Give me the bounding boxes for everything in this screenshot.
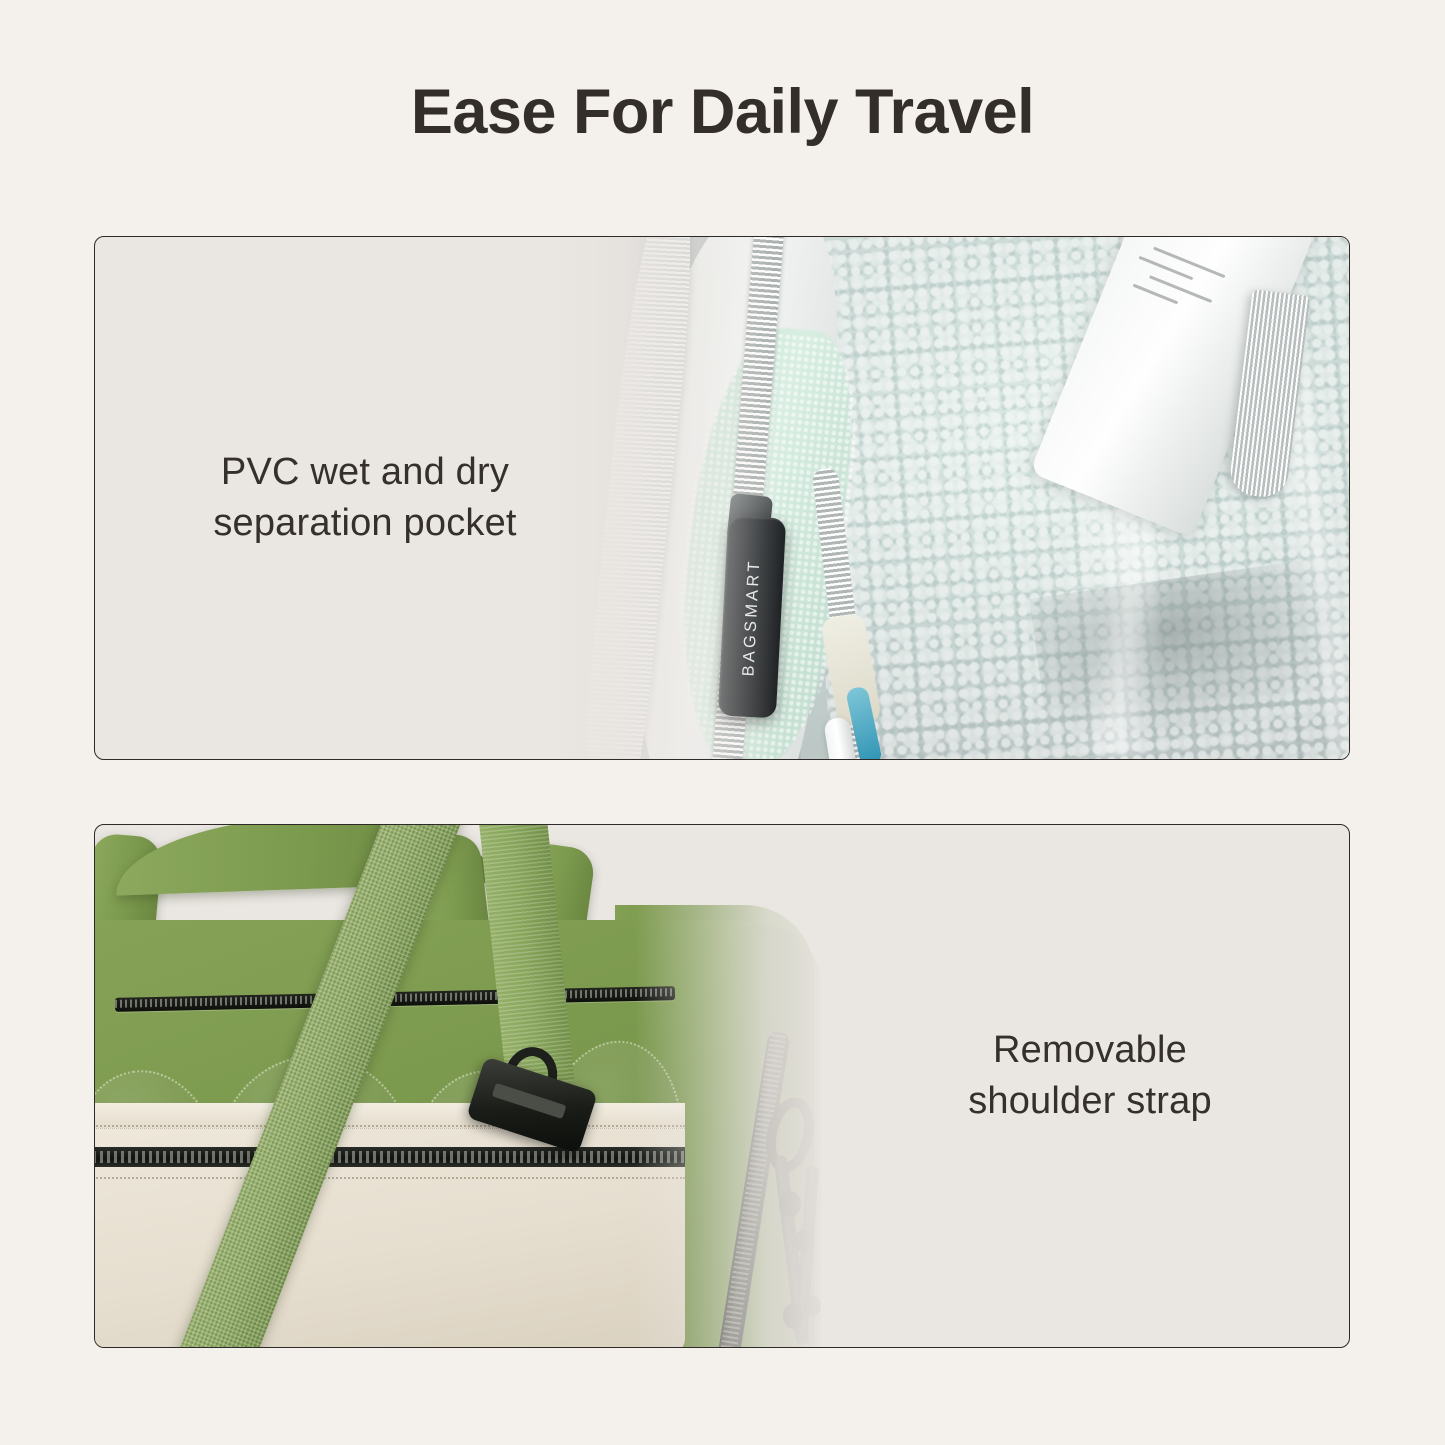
product-photo-pvc-pocket: BAGSMART <box>485 237 1349 759</box>
caption-shoulder-strap: Removable shoulder strap <box>855 1025 1325 1126</box>
feature-panel-shoulder-strap: Removable shoulder strap <box>94 824 1350 1348</box>
front-pocket-stitching <box>95 1177 685 1179</box>
front-pocket-stitching <box>95 1125 685 1127</box>
photo-fade-right <box>635 825 875 1347</box>
front-pocket-zipper-teeth <box>95 1151 685 1163</box>
product-photo-shoulder-strap <box>95 825 875 1347</box>
feature-panel-pvc-pocket: BAGSMART PVC wet and dry separation pock… <box>94 236 1350 760</box>
cream-front-pocket <box>95 1103 685 1347</box>
page-title: Ease For Daily Travel <box>0 78 1445 147</box>
caption-pvc-pocket: PVC wet and dry separation pocket <box>135 447 595 548</box>
